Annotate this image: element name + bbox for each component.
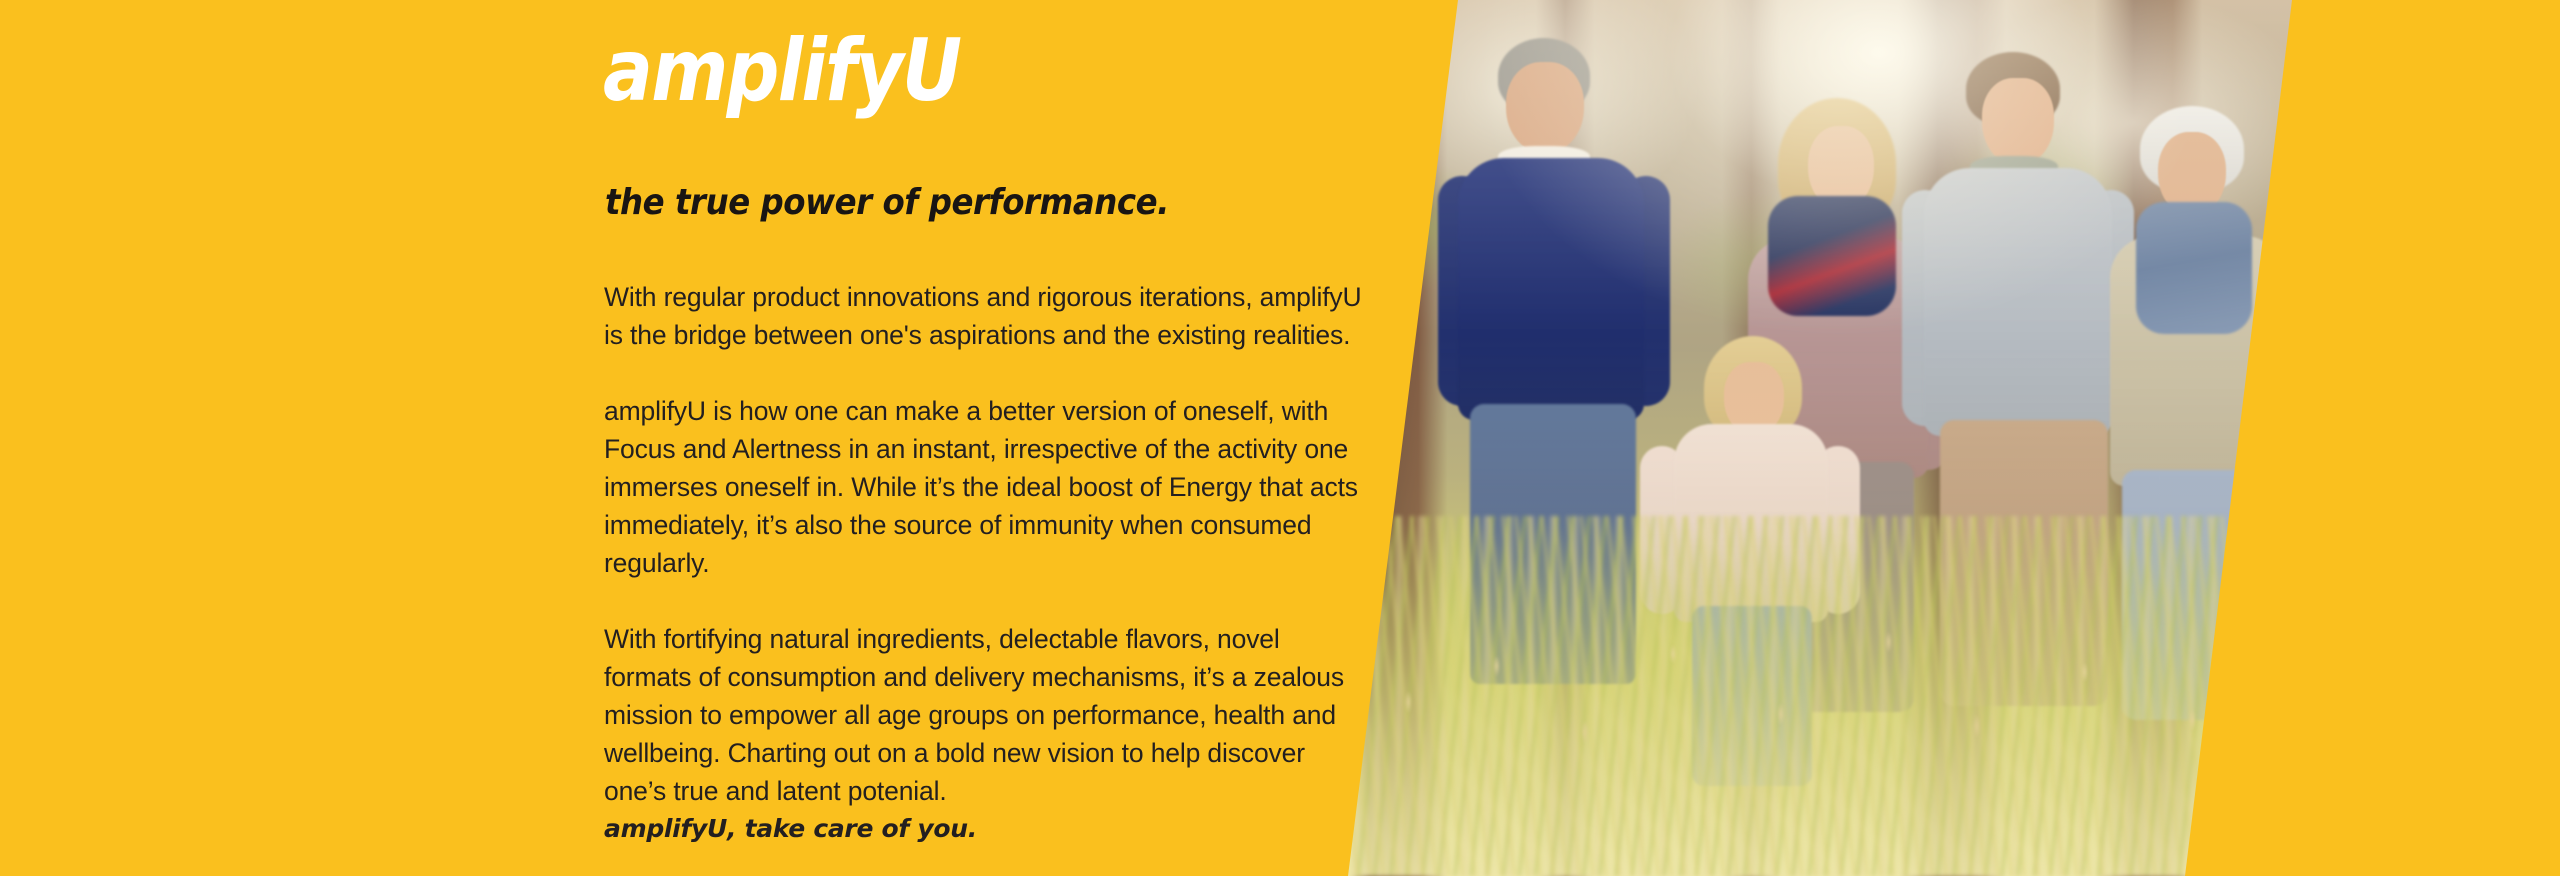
signoff-line: amplifyU, take care of you. bbox=[604, 810, 1364, 848]
amplifyu-brand-banner: amplifyU the true power of performance. … bbox=[0, 0, 2560, 876]
man-grey-sweater bbox=[1924, 168, 2112, 436]
older-man-navy-sweater bbox=[1458, 158, 1644, 420]
body-copy: With regular product innovations and rig… bbox=[604, 278, 1364, 848]
older-man-face bbox=[1506, 62, 1584, 154]
paragraph-2: amplifyU is how one can make a better ve… bbox=[604, 392, 1364, 582]
brand-tagline: the true power of performance. bbox=[605, 185, 1169, 221]
older-woman-blue-scarf bbox=[2136, 202, 2252, 334]
foreground-grass-seeds bbox=[1330, 576, 2310, 876]
text-column: amplifyU the true power of performance. … bbox=[603, 0, 1363, 876]
woman-pink-navy-red-scarf bbox=[1768, 196, 1896, 316]
family-photo bbox=[1330, 0, 2310, 876]
man-grey-face bbox=[1982, 78, 2054, 166]
paragraph-3: With fortifying natural ingredients, del… bbox=[604, 620, 1364, 810]
family-photo-panel bbox=[1330, 0, 2310, 876]
paragraph-1: With regular product innovations and rig… bbox=[604, 278, 1364, 354]
older-woman-right-arm bbox=[2260, 258, 2304, 472]
amplifyu-logo: amplifyU bbox=[603, 28, 960, 114]
